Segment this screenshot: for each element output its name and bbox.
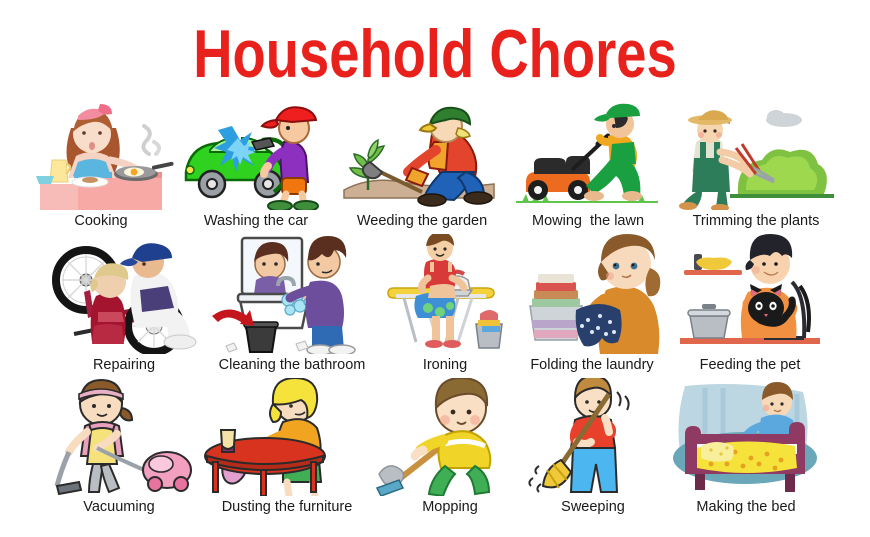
chore-item-washing-the-car[interactable]: Washing the car	[176, 98, 336, 230]
chore-row-2: Repairing	[0, 234, 870, 374]
cooking-illustration	[26, 98, 176, 210]
household-chores-poster: Household Chores	[0, 0, 870, 537]
chore-label: Washing the car	[204, 212, 308, 230]
feeding-the-pet-illustration	[674, 234, 826, 354]
chore-label: Repairing	[93, 356, 155, 374]
chore-item-folding-the-laundry[interactable]: Folding the laundry	[510, 234, 674, 374]
sweeping-illustration	[525, 378, 661, 496]
chore-item-mopping[interactable]: Mopping	[375, 378, 525, 516]
chore-item-repairing[interactable]: Repairing	[44, 234, 204, 374]
chore-item-mowing-the-lawn[interactable]: Mowing the lawn	[508, 98, 668, 230]
chore-label: Folding the laundry	[530, 356, 653, 374]
chore-item-trimming-the-plants[interactable]: Trimming the plants	[668, 98, 844, 230]
chore-item-making-the-bed[interactable]: Making the bed	[661, 378, 831, 516]
chore-label: Mopping	[422, 498, 478, 516]
chore-item-cooking[interactable]: Cooking	[26, 98, 176, 230]
chore-item-ironing[interactable]: Ironing	[380, 234, 510, 374]
trimming-the-plants-illustration	[668, 98, 844, 210]
chore-label: Feeding the pet	[700, 356, 801, 374]
chore-item-feeding-the-pet[interactable]: Feeding the pet	[674, 234, 826, 374]
folding-the-laundry-illustration	[510, 234, 674, 354]
chore-row-1: Cooking	[0, 100, 870, 230]
chore-label: Ironing	[423, 356, 467, 374]
chore-label: Mowing the lawn	[532, 212, 644, 230]
mowing-the-lawn-illustration	[508, 98, 668, 210]
dusting-the-furniture-illustration	[199, 378, 375, 496]
ironing-illustration	[380, 234, 510, 354]
chore-label: Weeding the garden	[357, 212, 487, 230]
cleaning-the-bathroom-illustration	[204, 234, 380, 354]
vacuuming-illustration	[39, 378, 199, 496]
washing-the-car-illustration	[176, 98, 336, 210]
chore-item-cleaning-the-bathroom[interactable]: Cleaning the bathroom	[204, 234, 380, 374]
weeding-the-garden-illustration	[336, 98, 508, 210]
page-title: Household Chores	[87, 0, 783, 100]
chore-row-3: Vacuuming	[0, 376, 870, 516]
chore-label: Making the bed	[696, 498, 795, 516]
chore-item-sweeping[interactable]: Sweeping	[525, 378, 661, 516]
making-the-bed-illustration	[661, 378, 831, 496]
chore-item-vacuuming[interactable]: Vacuuming	[39, 378, 199, 516]
chore-label: Cooking	[74, 212, 127, 230]
chore-label: Dusting the furniture	[222, 498, 353, 516]
repairing-illustration	[44, 234, 204, 354]
chore-label: Sweeping	[561, 498, 625, 516]
chore-label: Trimming the plants	[693, 212, 820, 230]
chore-item-weeding-the-garden[interactable]: Weeding the garden	[336, 98, 508, 230]
chore-label: Vacuuming	[83, 498, 154, 516]
chore-label: Cleaning the bathroom	[219, 356, 366, 374]
mopping-illustration	[375, 378, 525, 496]
chore-item-dusting-the-furniture[interactable]: Dusting the furniture	[199, 378, 375, 516]
